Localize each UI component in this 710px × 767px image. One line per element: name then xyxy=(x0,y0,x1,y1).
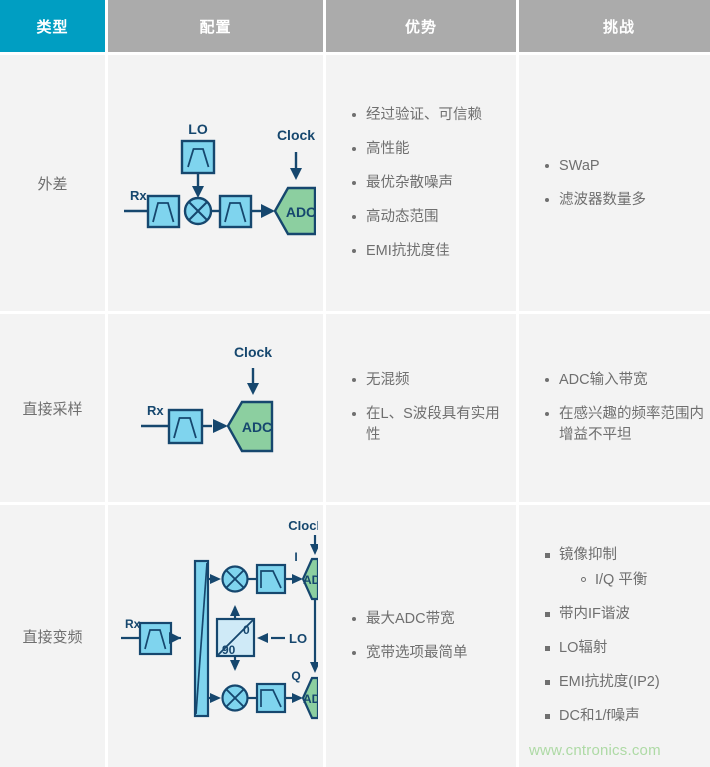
label-phase-0: 0 xyxy=(243,623,250,637)
label-adc: ADC xyxy=(285,204,315,220)
label-adc: ADC xyxy=(241,419,271,435)
header-cell-advantages: 优势 xyxy=(326,0,516,52)
comparison-table: 类型 配置 优势 挑战 外差 xyxy=(0,0,710,758)
list-item: 宽带选项最简单 xyxy=(352,643,506,664)
challenges-cell-direct-sampling: ADC输入带宽 在感兴趣的频率范围内增益不平坦 xyxy=(519,314,710,502)
heterodyne-receiver-diagram: LO Clock Rx ADC xyxy=(108,55,323,311)
challenges-sublist: I/Q 平衡 xyxy=(559,570,709,591)
advantages-list: 经过验证、可信赖 高性能 最优杂散噪声 高动态范围 EMI抗扰度佳 xyxy=(326,105,516,262)
label-lo: LO xyxy=(188,121,208,137)
arrow-lo-to-hybrid xyxy=(257,633,268,643)
label-clock: Clock xyxy=(276,127,314,143)
heterodyne-schematic: LO Clock Rx ADC xyxy=(116,108,316,258)
arrow-to-adc-i xyxy=(292,574,303,584)
row-type-direct-sampling: 直接采样 xyxy=(0,314,105,502)
advantages-cell-direct-sampling: 无混频 在L、S波段具有实用性 xyxy=(326,314,516,502)
label-rx: Rx xyxy=(125,617,141,631)
list-item: 在感兴趣的频率范围内增益不平坦 xyxy=(545,404,709,446)
advantages-list: 最大ADC带宽 宽带选项最简单 xyxy=(326,609,516,664)
arrow-to-splitter xyxy=(169,632,181,644)
direct-sampling-receiver-diagram: Clock Rx ADC xyxy=(108,314,323,502)
list-item: 带内IF谐波 xyxy=(545,604,709,625)
list-item: 在L、S波段具有实用性 xyxy=(352,404,506,446)
arrow-clock-to-adc-i xyxy=(310,544,318,555)
arrow-hybrid-to-top-mixer xyxy=(230,605,240,616)
arrow-hybrid-to-bottom-mixer xyxy=(230,660,240,671)
list-item: EMI抗扰度(IP2) xyxy=(545,672,709,693)
list-item-label: 镜像抑制 xyxy=(559,547,617,563)
header-label-advantages: 优势 xyxy=(405,16,437,37)
arrow-clock-to-adc xyxy=(290,168,302,180)
challenges-cell-heterodyne: SWaP 滤波器数量多 xyxy=(519,55,710,311)
row-type-direct-conversion: 直接变频 xyxy=(0,505,105,767)
label-adc-i: ADC xyxy=(303,573,318,587)
arrow-to-adc xyxy=(261,204,275,218)
label-clock: Clock xyxy=(233,344,271,360)
row-type-label: 直接变频 xyxy=(22,626,82,647)
list-item: I/Q 平衡 xyxy=(581,570,709,591)
list-item: EMI抗扰度佳 xyxy=(352,241,506,262)
advantages-list: 无混频 在L、S波段具有实用性 xyxy=(326,370,516,446)
label-q-branch: Q xyxy=(291,669,300,683)
header-cell-type: 类型 xyxy=(0,0,105,52)
arrow-clock-to-adc xyxy=(247,383,259,395)
row-type-label: 直接采样 xyxy=(22,398,82,419)
label-clock: Clock xyxy=(288,521,318,533)
list-item: 高性能 xyxy=(352,139,506,160)
list-item: 滤波器数量多 xyxy=(545,190,709,211)
list-item: 高动态范围 xyxy=(352,207,506,228)
list-item: 镜像抑制 I/Q 平衡 xyxy=(545,545,709,591)
challenges-list: 镜像抑制 I/Q 平衡 带内IF谐波 LO辐射 EMI抗扰度(IP2) DC和1… xyxy=(519,545,710,727)
list-item: 经过验证、可信赖 xyxy=(352,105,506,126)
label-i-branch: I xyxy=(294,550,297,564)
header-cell-configuration: 配置 xyxy=(108,0,323,52)
advantages-cell-direct-conversion: 最大ADC带宽 宽带选项最简单 xyxy=(326,505,516,767)
list-item: ADC输入带宽 xyxy=(545,370,709,391)
header-label-challenges: 挑战 xyxy=(603,16,635,37)
label-rx: Rx xyxy=(130,188,147,203)
header-label-type: 类型 xyxy=(36,16,68,37)
arrow-to-adc-q xyxy=(292,693,303,703)
challenges-list: SWaP 滤波器数量多 xyxy=(519,156,710,211)
list-item: 最大ADC带宽 xyxy=(352,609,506,630)
arrow-to-top-mixer xyxy=(210,574,221,584)
label-phase-90: 90 xyxy=(222,643,236,657)
direct-conversion-schematic: Clock Rx LO I Q 90 0 ADC ADC xyxy=(113,521,318,751)
watermark: www.cntronics.com xyxy=(529,742,661,759)
direct-sampling-schematic: Clock Rx ADC xyxy=(116,338,316,478)
advantages-cell-heterodyne: 经过验证、可信赖 高性能 最优杂散噪声 高动态范围 EMI抗扰度佳 xyxy=(326,55,516,311)
direct-conversion-receiver-diagram: Clock Rx LO I Q 90 0 ADC ADC xyxy=(108,505,323,767)
row-type-label: 外差 xyxy=(37,173,67,194)
arrow-to-adc xyxy=(213,419,228,433)
list-item: 最优杂散噪声 xyxy=(352,173,506,194)
label-adc-q: ADC xyxy=(303,692,318,706)
arrow-lo-to-mixer xyxy=(192,186,204,198)
arrow-clock-to-adc-q xyxy=(310,662,318,673)
header-cell-challenges: 挑战 xyxy=(519,0,710,52)
label-rx: Rx xyxy=(147,403,164,418)
header-label-configuration: 配置 xyxy=(199,16,231,37)
list-item: SWaP xyxy=(545,156,709,177)
row-type-heterodyne: 外差 xyxy=(0,55,105,311)
arrow-to-bottom-mixer xyxy=(210,693,221,703)
label-lo: LO xyxy=(289,631,307,646)
list-item: 无混频 xyxy=(352,370,506,391)
list-item: LO辐射 xyxy=(545,638,709,659)
challenges-list: ADC输入带宽 在感兴趣的频率范围内增益不平坦 xyxy=(519,370,710,446)
list-item: DC和1/f噪声 xyxy=(545,706,709,727)
challenges-cell-direct-conversion: 镜像抑制 I/Q 平衡 带内IF谐波 LO辐射 EMI抗扰度(IP2) DC和1… xyxy=(519,505,710,767)
